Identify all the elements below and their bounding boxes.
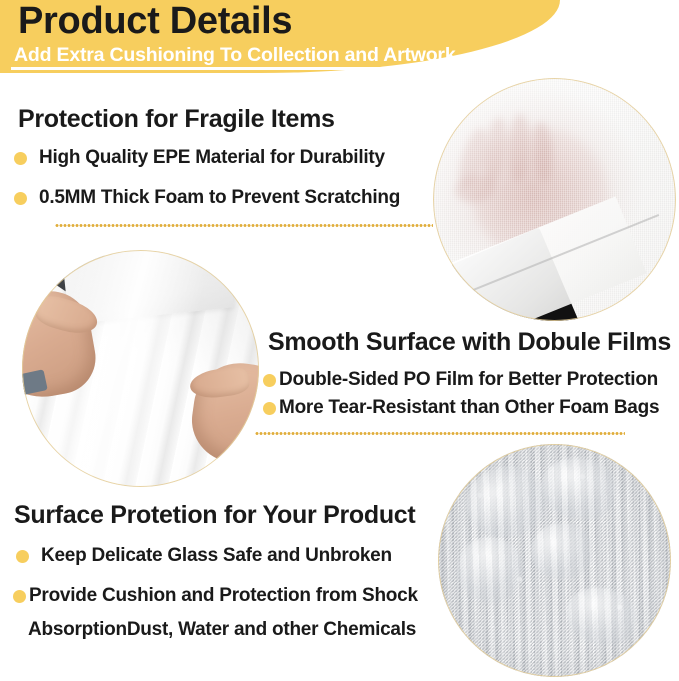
product-details-infographic: Product Details Add Extra Cushioning To … <box>0 0 679 681</box>
header-underline <box>11 67 533 70</box>
bullet-item: High Quality EPE Material for Durability <box>14 146 385 170</box>
bullet-label: High Quality EPE Material for Durability <box>39 146 385 170</box>
bullet-label: Double-Sided PO Film for Better Protecti… <box>279 368 658 392</box>
section-heading-3: Surface Protetion for Your Product <box>14 500 415 530</box>
page-subtitle: Add Extra Cushioning To Collection and A… <box>14 44 455 66</box>
bullet-dot-icon <box>14 152 27 165</box>
product-photo-fragile-protection <box>433 78 676 321</box>
bullet-label: Keep Delicate Glass Safe and Unbroken <box>41 544 392 568</box>
bullet-item: Keep Delicate Glass Safe and Unbroken <box>16 544 392 568</box>
photo3-vignette <box>438 444 671 677</box>
bullet-label: More Tear-Resistant than Other Foam Bags <box>279 396 659 420</box>
section-heading-2: Smooth Surface with Dobule Films <box>268 327 671 357</box>
bullet-label: Provide Cushion and Protection from Shoc… <box>29 584 418 608</box>
bullet-label: 0.5MM Thick Foam to Prevent Scratching <box>39 186 400 210</box>
bullet-dot-icon <box>263 374 276 387</box>
page-title: Product Details <box>18 0 292 43</box>
bullet-dot-icon <box>14 192 27 205</box>
section-divider-1 <box>55 224 433 227</box>
bullet-item: 0.5MM Thick Foam to Prevent Scratching <box>14 186 400 210</box>
bullet-item: More Tear-Resistant than Other Foam Bags <box>263 396 659 420</box>
bullet-dot-icon <box>13 590 26 603</box>
bullet-item: Provide Cushion and Protection from Shoc… <box>13 584 418 608</box>
bullet-dot-icon <box>16 550 29 563</box>
product-photo-surface-protection <box>438 444 671 677</box>
section-heading-1: Protection for Fragile Items <box>18 104 335 134</box>
product-photo-smooth-surface <box>22 250 259 487</box>
bullet-dot-icon <box>263 402 276 415</box>
bullet-item: Double-Sided PO Film for Better Protecti… <box>263 368 658 392</box>
section-divider-2 <box>255 432 625 435</box>
bullet-label-continuation: AbsorptionDust, Water and other Chemical… <box>28 618 416 642</box>
